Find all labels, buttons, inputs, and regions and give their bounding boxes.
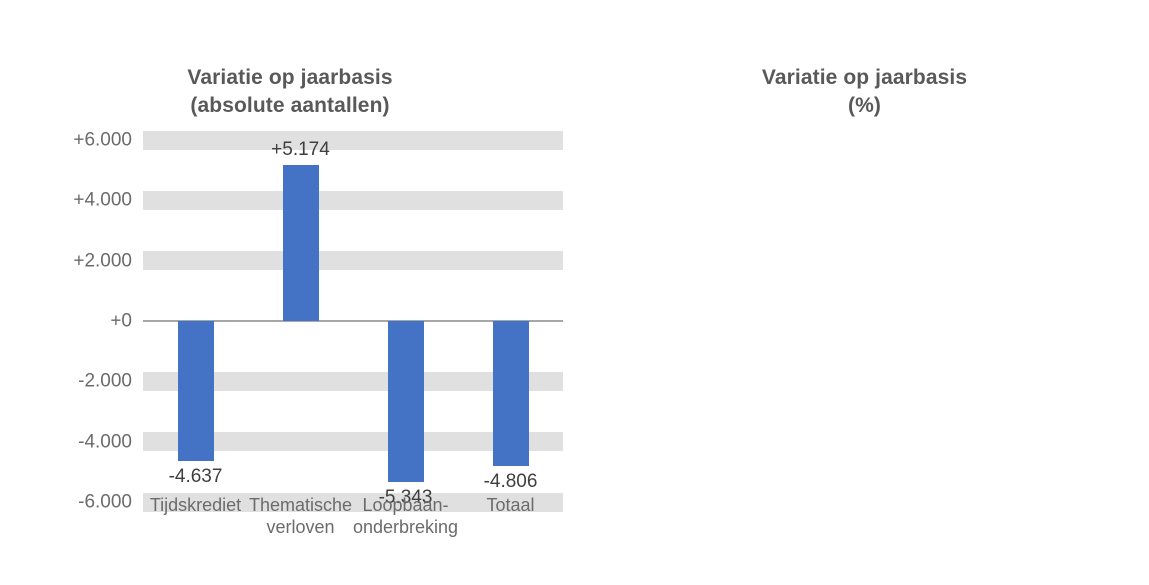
bar[interactable] <box>283 165 319 321</box>
x-axis-category-line: Loopbaan- <box>353 494 458 516</box>
x-axis-category-label: Loopbaan-onderbreking <box>353 494 458 538</box>
x-axis-category-line: Totaal <box>486 494 534 516</box>
chart-absolute-plot-area: +6.000+4.000+2.000+0-2.000-4.000-6.000-4… <box>143 140 563 502</box>
y-axis-tick-label: +6.000 <box>73 131 132 150</box>
y-axis-tick-label: +0 <box>110 312 132 331</box>
chart-percent-title-line2: (%) <box>580 92 1149 120</box>
x-axis-category-line: Thematische <box>249 494 352 516</box>
chart-percent-title-line1: Variatie op jaarbasis <box>580 64 1149 92</box>
bar[interactable] <box>178 321 214 461</box>
x-axis-category-line: onderbreking <box>353 516 458 538</box>
x-axis-category-line: verloven <box>249 516 352 538</box>
chart-absolute-title: Variatie op jaarbasis (absolute aantalle… <box>0 64 580 120</box>
chart-absolute-numbers: Variatie op jaarbasis (absolute aantalle… <box>0 0 580 585</box>
x-axis-category-label: Tijdskrediet <box>150 494 241 516</box>
grid-band <box>143 251 563 270</box>
bar-value-label: -4.806 <box>484 471 538 492</box>
x-axis-category-label: Thematischeverloven <box>249 494 352 538</box>
chart-percent-title: Variatie op jaarbasis (%) <box>580 64 1149 120</box>
grid-band <box>143 191 563 210</box>
grid-band <box>143 131 563 150</box>
y-axis-tick-label: -6.000 <box>78 493 132 512</box>
y-axis-tick-label: -2.000 <box>78 372 132 391</box>
y-axis-tick-label: +2.000 <box>73 251 132 270</box>
bar-value-label: +5.174 <box>271 139 330 160</box>
x-axis-category-line: Tijdskrediet <box>150 494 241 516</box>
chart-percent: Variatie op jaarbasis (%) +8,0%+6,0%+4,0… <box>580 0 1149 585</box>
y-axis-tick-label: +4.000 <box>73 191 132 210</box>
bar-value-label: -4.637 <box>169 466 223 487</box>
bar[interactable] <box>493 321 529 466</box>
bar[interactable] <box>388 321 424 482</box>
chart-absolute-title-line1: Variatie op jaarbasis <box>0 64 580 92</box>
y-axis-tick-label: -4.000 <box>78 432 132 451</box>
chart-absolute-title-line2: (absolute aantallen) <box>0 92 580 120</box>
charts-container: Variatie op jaarbasis (absolute aantalle… <box>0 0 1149 585</box>
x-axis-category-label: Totaal <box>486 494 534 516</box>
